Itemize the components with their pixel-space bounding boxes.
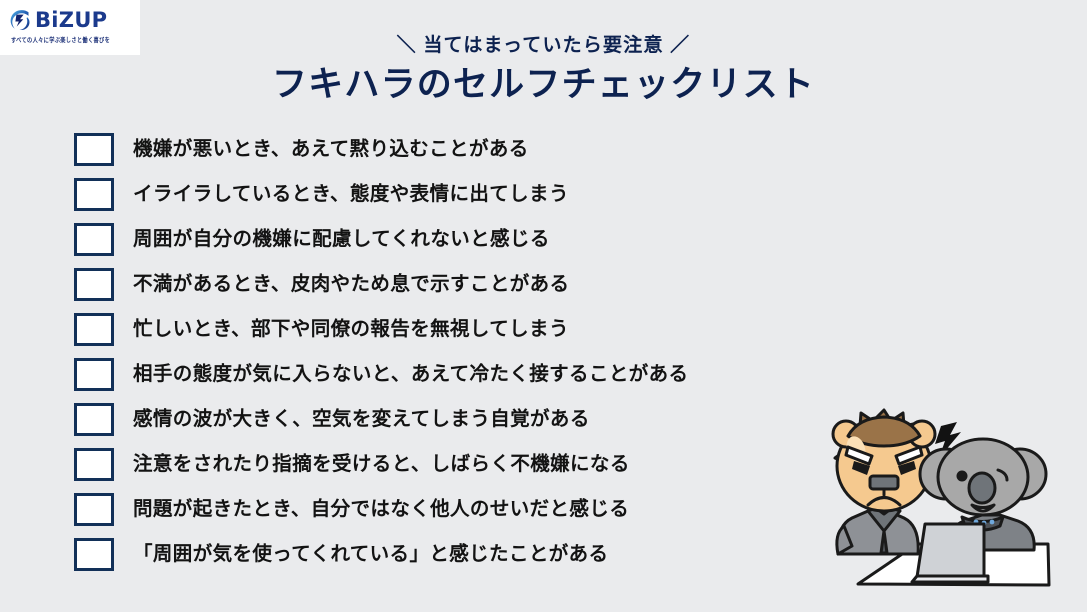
checkbox[interactable]: [74, 448, 114, 481]
checklist-item[interactable]: 周囲が自分の機嫌に配慮してくれないと感じる: [74, 223, 688, 256]
checklist-item-label: 不満があるとき、皮肉やため息で示すことがある: [133, 275, 569, 295]
angry-lion-and-stressed-koala-illustration: [786, 404, 1087, 612]
checklist-item-label: 問題が起きたとき、自分ではなく他人のせいだと感じる: [133, 500, 629, 520]
checkbox[interactable]: [74, 268, 114, 301]
checklist-item[interactable]: 「周囲が気を使ってくれている」と感じたことがある: [74, 538, 688, 571]
checklist-item[interactable]: 不満があるとき、皮肉やため息で示すことがある: [74, 268, 688, 301]
angry-lion-in-suit: [833, 410, 935, 554]
page-subtitle: ＼ 当てはまっていたら要注意 ／: [0, 36, 1087, 57]
checklist-item-label: 周囲が自分の機嫌に配慮してくれないと感じる: [133, 230, 550, 250]
checklist-item-label: 感情の波が大きく、空気を変えてしまう自覚がある: [133, 410, 590, 430]
checklist-item[interactable]: 機嫌が悪いとき、あえて黙り込むことがある: [74, 133, 688, 166]
checklist: 機嫌が悪いとき、あえて黙り込むことがある イライラしているとき、態度や表情に出て…: [74, 133, 688, 571]
checkbox[interactable]: [74, 223, 114, 256]
checkbox[interactable]: [74, 403, 114, 436]
checklist-item-label: イライラしているとき、態度や表情に出てしまう: [133, 185, 569, 205]
slide-canvas: BiZUP すべての人々に学ぶ楽しさと働く喜びを ＼ 当てはまっていたら要注意 …: [0, 0, 1087, 612]
bizup-swoosh-icon: [9, 9, 32, 32]
checkbox[interactable]: [74, 133, 114, 166]
checklist-item-label: 注意をされたり指摘を受けると、しばらく不機嫌になる: [133, 455, 630, 475]
checklist-item-label: 「周囲が気を使ってくれている」と感じたことがある: [133, 545, 608, 565]
checklist-item[interactable]: 忙しいとき、部下や同僚の報告を無視してしまう: [74, 313, 688, 346]
checkbox[interactable]: [74, 178, 114, 211]
laptop: [912, 524, 988, 582]
checklist-item[interactable]: 注意をされたり指摘を受けると、しばらく不機嫌になる: [74, 448, 688, 481]
logo-wordmark: BiZUP: [35, 10, 107, 31]
checkbox[interactable]: [74, 313, 114, 346]
checklist-item-label: 機嫌が悪いとき、あえて黙り込むことがある: [133, 140, 529, 160]
checkbox[interactable]: [74, 538, 114, 571]
checkbox[interactable]: [74, 358, 114, 391]
brand-logo[interactable]: BiZUP: [9, 9, 107, 32]
checklist-item[interactable]: 感情の波が大きく、空気を変えてしまう自覚がある: [74, 403, 688, 436]
checklist-item-label: 相手の態度が気に入らないと、あえて冷たく接することがある: [133, 365, 688, 385]
checklist-item[interactable]: 相手の態度が気に入らないと、あえて冷たく接することがある: [74, 358, 688, 391]
checkbox[interactable]: [74, 493, 114, 526]
checklist-item[interactable]: 問題が起きたとき、自分ではなく他人のせいだと感じる: [74, 493, 688, 526]
checklist-item-label: 忙しいとき、部下や同僚の報告を無視してしまう: [133, 320, 569, 340]
page-title: フキハラのセルフチェックリスト: [0, 65, 1087, 105]
title-block: ＼ 当てはまっていたら要注意 ／ フキハラのセルフチェックリスト: [0, 36, 1087, 105]
checklist-item[interactable]: イライラしているとき、態度や表情に出てしまう: [74, 178, 688, 211]
